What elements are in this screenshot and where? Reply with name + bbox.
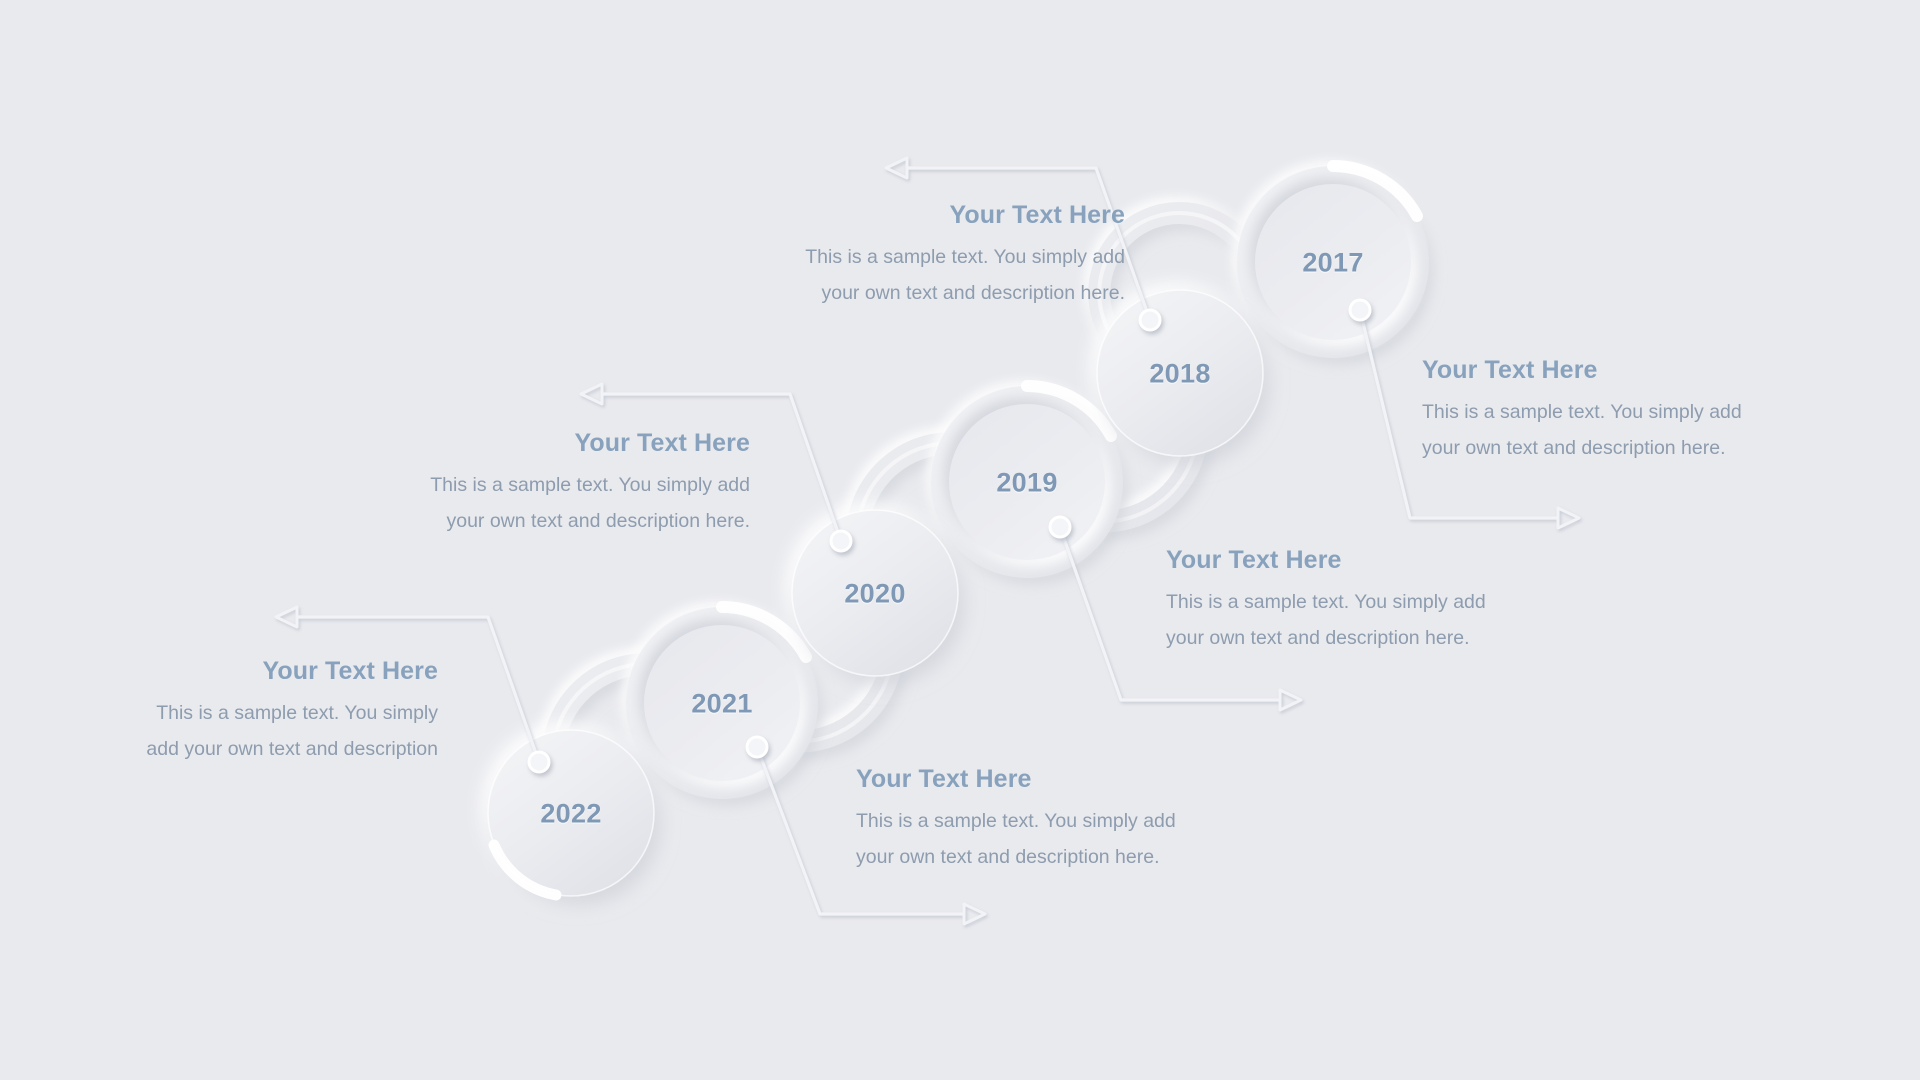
- text-block-2019-title: Your Text Here: [1166, 545, 1596, 575]
- text-line: This is a sample text. You simply add: [330, 467, 750, 503]
- text-line: your own text and description here.: [1422, 430, 1852, 466]
- connector-pin-2017: [1350, 300, 1370, 320]
- text-line: This is a sample text. You simply add: [1422, 394, 1852, 430]
- text-block-2022-body: This is a sample text. You simply add yo…: [58, 695, 438, 767]
- text-block-2022: Your Text Here This is a sample text. Yo…: [58, 656, 438, 767]
- text-block-2018-body: This is a sample text. You simply add yo…: [650, 239, 1125, 311]
- text-block-2019: Your Text Here This is a sample text. Yo…: [1166, 545, 1596, 656]
- connector-pin-2020: [831, 531, 851, 551]
- text-block-2018-title: Your Text Here: [650, 200, 1125, 230]
- year-label-2020: 2020: [844, 579, 905, 610]
- year-label-2017: 2017: [1302, 248, 1363, 279]
- text-block-2017: Your Text Here This is a sample text. Yo…: [1422, 355, 1852, 466]
- year-label-2022: 2022: [540, 799, 601, 830]
- text-block-2021: Your Text Here This is a sample text. Yo…: [856, 764, 1286, 875]
- connector-pin-2018: [1140, 310, 1160, 330]
- text-line: your own text and description here.: [650, 275, 1125, 311]
- infographic-canvas: 2017 2018 2019 2020 2021 2022 Your Text …: [0, 0, 1920, 1080]
- text-block-2020-body: This is a sample text. You simply add yo…: [330, 467, 750, 539]
- text-line: your own text and description here.: [1166, 620, 1596, 656]
- text-line: add your own text and description: [58, 731, 438, 767]
- year-label-2021: 2021: [691, 689, 752, 720]
- text-block-2021-title: Your Text Here: [856, 764, 1286, 794]
- text-block-2018: Your Text Here This is a sample text. Yo…: [650, 200, 1125, 311]
- text-block-2017-body: This is a sample text. You simply add yo…: [1422, 394, 1852, 466]
- text-block-2020: Your Text Here This is a sample text. Yo…: [330, 428, 750, 539]
- text-line: This is a sample text. You simply add: [856, 803, 1286, 839]
- text-line: your own text and description here.: [330, 503, 750, 539]
- text-line: This is a sample text. You simply: [58, 695, 438, 731]
- connector-pin-2019: [1050, 517, 1070, 537]
- connector-pin-2022: [529, 752, 549, 772]
- text-block-2019-body: This is a sample text. You simply add yo…: [1166, 584, 1596, 656]
- text-block-2022-title: Your Text Here: [58, 656, 438, 686]
- text-block-2020-title: Your Text Here: [330, 428, 750, 458]
- year-label-2019: 2019: [996, 468, 1057, 499]
- text-line: This is a sample text. You simply add: [650, 239, 1125, 275]
- timeline-graphics: [0, 0, 1920, 1080]
- text-line: your own text and description here.: [856, 839, 1286, 875]
- text-block-2017-title: Your Text Here: [1422, 355, 1852, 385]
- year-label-2018: 2018: [1149, 359, 1210, 390]
- text-line: This is a sample text. You simply add: [1166, 584, 1596, 620]
- text-block-2021-body: This is a sample text. You simply add yo…: [856, 803, 1286, 875]
- connector-pin-2021: [747, 737, 767, 757]
